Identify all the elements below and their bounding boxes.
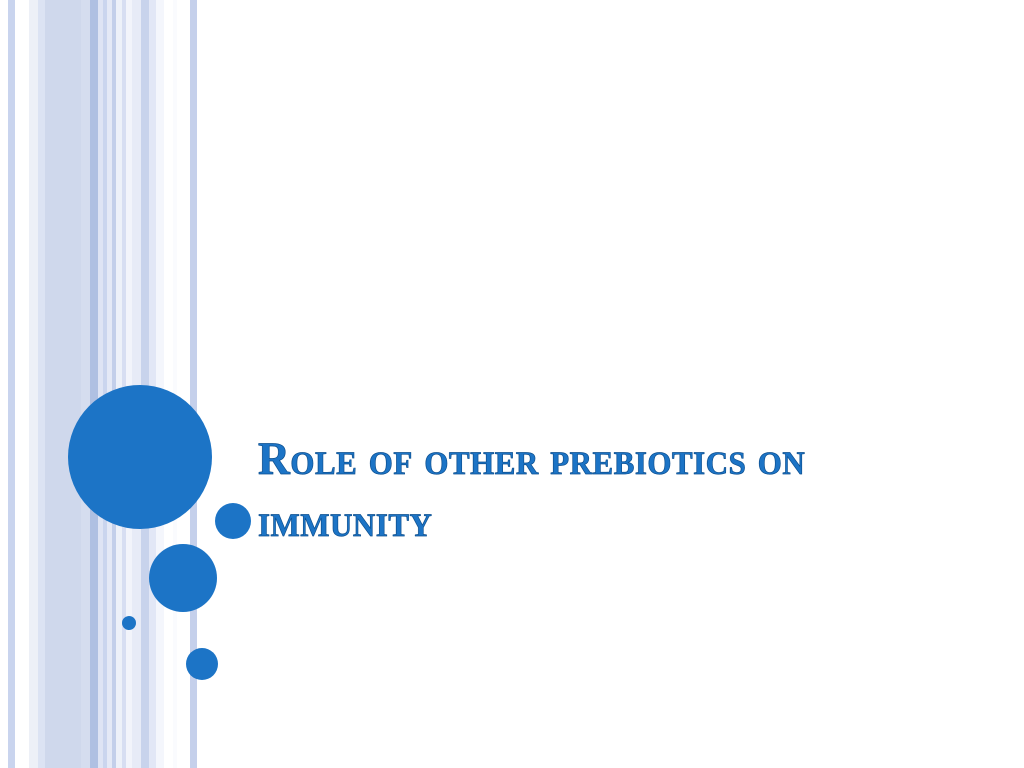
bubble-large <box>68 385 212 529</box>
decorative-stripe <box>149 0 156 768</box>
bubble-medium <box>149 544 217 612</box>
bubble-lower <box>186 648 218 680</box>
decorative-stripe <box>8 0 15 768</box>
decorative-stripe-band <box>0 0 210 768</box>
bubble-small <box>215 503 251 539</box>
decorative-stripe <box>45 0 81 768</box>
decorative-stripe <box>141 0 149 768</box>
decorative-stripe <box>132 0 141 768</box>
slide-title-block: Role of other prebiotics on immunity <box>258 428 958 552</box>
decorative-stripe <box>81 0 90 768</box>
decorative-stripe <box>173 0 177 768</box>
decorative-stripe <box>38 0 45 768</box>
page-title: Role of other prebiotics on immunity <box>258 428 916 552</box>
decorative-stripe <box>156 0 164 768</box>
slide-canvas: Role of other prebiotics on immunity <box>0 0 1024 768</box>
bubble-tiny <box>122 616 136 630</box>
decorative-stripe <box>90 0 98 768</box>
decorative-stripe <box>29 0 38 768</box>
